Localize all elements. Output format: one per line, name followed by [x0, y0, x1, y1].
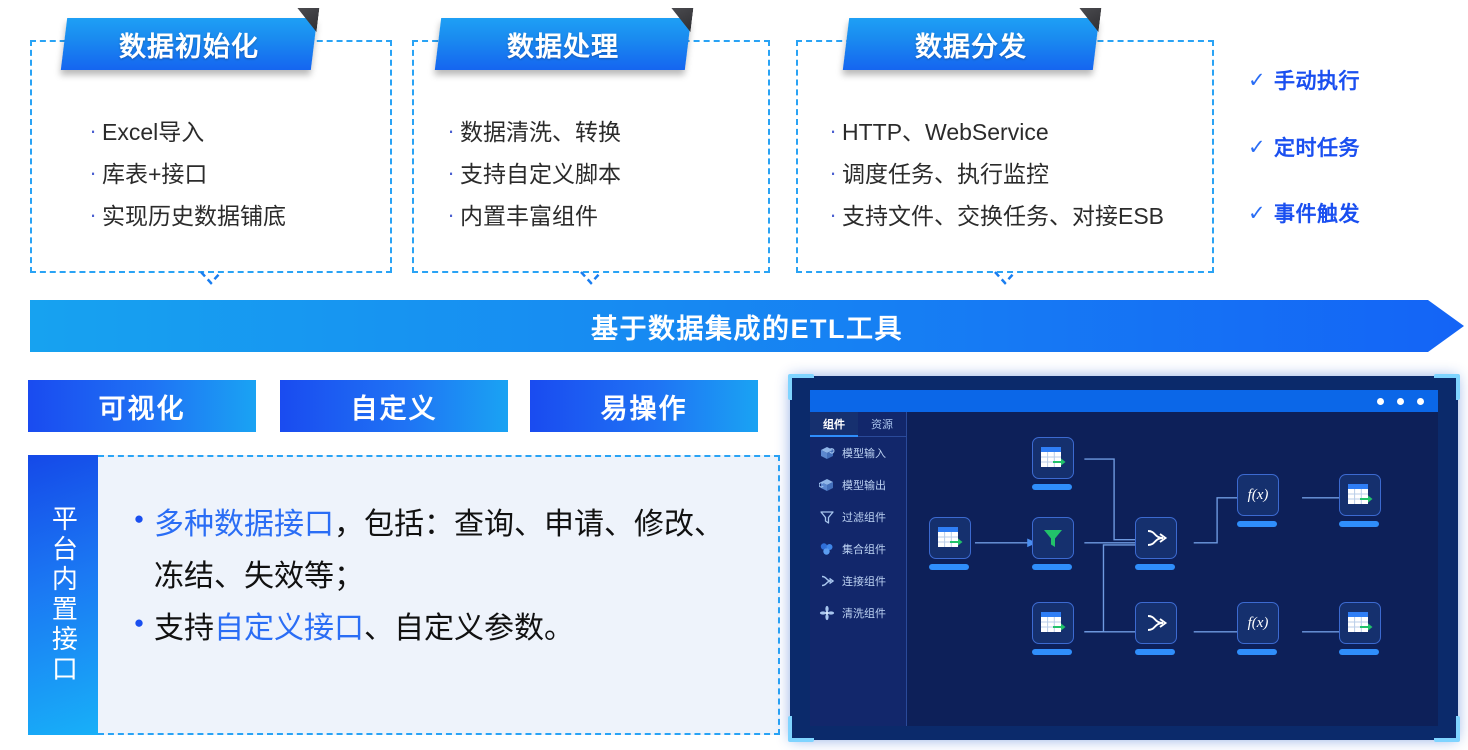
- node-bar: [1339, 521, 1379, 527]
- fx-node[interactable]: f(x): [1237, 474, 1279, 516]
- checklist-item-label: 手动执行: [1274, 65, 1360, 95]
- checklist-item-scheduled: ✓ 定时任务: [1248, 132, 1360, 162]
- feature-content-box: ● 多种数据接口，包括：查询、申请、修改、 冻结、失效等； ● 支持自定义接口、…: [98, 455, 780, 735]
- sidebar-item-label: 过滤组件: [842, 509, 886, 525]
- node-bar: [1032, 564, 1072, 570]
- list-item: · 调度任务、执行监控: [824, 160, 1212, 188]
- list-item-label: 库表+接口: [102, 160, 207, 188]
- feature-line-2: 冻结、失效等；: [124, 551, 778, 603]
- flow-canvas[interactable]: f(x) f(x): [907, 412, 1438, 726]
- window-dot-icon[interactable]: [1377, 398, 1384, 405]
- bullet-dot-icon: ·: [824, 160, 842, 186]
- feature-line-1: ● 多种数据接口，包括：查询、申请、修改、: [124, 499, 778, 551]
- funnel-icon: [819, 509, 835, 525]
- table-node[interactable]: [1339, 602, 1381, 644]
- join-icon: [819, 573, 835, 589]
- panel-ribbon-title: 数据处理: [435, 18, 691, 70]
- connector-notch-icon: [994, 271, 1016, 283]
- sidebar-item-join[interactable]: 连接组件: [810, 565, 906, 597]
- ribbon-fold-corner: [1076, 8, 1101, 32]
- table-node[interactable]: [929, 517, 971, 559]
- node-bar: [1237, 521, 1277, 527]
- ribbon-label: 数据初始化: [119, 25, 259, 64]
- bullet-dot-icon: ·: [84, 118, 102, 144]
- list-item: · 支持文件、交换任务、对接ESB: [824, 202, 1212, 230]
- tab-visualization[interactable]: 可视化: [28, 380, 256, 432]
- fx-label: f(x): [1248, 615, 1269, 632]
- panel-data-process: 数据处理 · 数据清洗、转换 · 支持自定义脚本 · 内置丰富组件: [412, 40, 770, 273]
- sidebar-item-clean[interactable]: 清洗组件: [810, 597, 906, 629]
- checklist-item-label: 事件触发: [1274, 198, 1360, 228]
- table-node[interactable]: [1339, 474, 1381, 516]
- node-bar: [1339, 649, 1379, 655]
- panel-bullet-list: · 数据清洗、转换 · 支持自定义脚本 · 内置丰富组件: [414, 118, 768, 244]
- bullet-dot-icon: ·: [84, 202, 102, 228]
- box-out-icon: [819, 477, 835, 493]
- component-sidebar: 组件 资源 模型输入 模型输出: [810, 412, 907, 726]
- tab-customization[interactable]: 自定义: [280, 380, 508, 432]
- bullet-dot-icon: ·: [84, 160, 102, 186]
- list-item-label: 数据清洗、转换: [460, 118, 621, 146]
- list-item-label: HTTP、WebService: [842, 118, 1049, 146]
- clean-icon: [819, 605, 835, 621]
- window-titlebar: [810, 390, 1438, 412]
- table-icon: [1347, 483, 1373, 507]
- ribbon-fold-corner: [668, 8, 693, 32]
- set-icon: [819, 541, 835, 557]
- sidebar-item-label: 清洗组件: [842, 605, 886, 621]
- funnel-icon: [1041, 526, 1065, 550]
- list-item: · 内置丰富组件: [442, 202, 768, 230]
- table-node[interactable]: [1032, 437, 1074, 479]
- list-item-label: 支持文件、交换任务、对接ESB: [842, 202, 1164, 230]
- sidebar-item-label: 集合组件: [842, 541, 886, 557]
- check-icon: ✓: [1248, 201, 1274, 226]
- ribbon-label: 数据分发: [915, 25, 1027, 64]
- list-item-label: 调度任务、执行监控: [842, 160, 1049, 188]
- box-in-icon: [819, 445, 835, 461]
- bullet-dot-icon: ·: [442, 160, 460, 186]
- list-item: · 实现历史数据铺底: [84, 202, 390, 230]
- checklist-item-event: ✓ 事件触发: [1248, 198, 1360, 228]
- table-icon: [1347, 611, 1373, 635]
- window-body: 组件 资源 模型输入 模型输出: [810, 412, 1438, 726]
- panel-bullet-list: · Excel导入 · 库表+接口 · 实现历史数据铺底: [32, 118, 390, 244]
- banner-title: 基于数据集成的ETL工具: [591, 307, 903, 346]
- node-bar: [1032, 484, 1072, 490]
- feature-highlight-3: 自定义接口: [214, 612, 364, 645]
- connector-notch-icon: [200, 271, 222, 283]
- app-window-screenshot: 组件 资源 模型输入 模型输出: [790, 376, 1458, 740]
- tab-label: 自定义: [351, 387, 438, 426]
- panel-data-distribute: 数据分发 · HTTP、WebService · 调度任务、执行监控 · 支持文…: [796, 40, 1214, 273]
- tab-label: 可视化: [99, 387, 186, 426]
- bullet-dot-icon: ·: [824, 202, 842, 228]
- sidebar-item-model-input[interactable]: 模型输入: [810, 437, 906, 469]
- list-item: · 数据清洗、转换: [442, 118, 768, 146]
- tab-easy-operation[interactable]: 易操作: [530, 380, 758, 432]
- node-bar: [1135, 649, 1175, 655]
- check-icon: ✓: [1248, 135, 1274, 160]
- list-item: · 支持自定义脚本: [442, 160, 768, 188]
- feature-vertical-label-bar: 平台内置接口: [28, 455, 98, 735]
- bullet-dot-icon: ●: [124, 499, 154, 539]
- list-item: · 库表+接口: [84, 160, 390, 188]
- table-icon: [1040, 611, 1066, 635]
- feature-text-3-prefix: 支持: [154, 612, 214, 645]
- sidebar-tabs: 组件 资源: [810, 412, 906, 437]
- sidebar-item-label: 模型输入: [842, 445, 886, 461]
- sidebar-item-set[interactable]: 集合组件: [810, 533, 906, 565]
- table-icon: [937, 526, 963, 550]
- bullet-dot-icon: ●: [124, 603, 154, 643]
- feature-vertical-label: 平台内置接口: [48, 505, 79, 685]
- bullet-dot-icon: ·: [442, 118, 460, 144]
- list-item-label: 实现历史数据铺底: [102, 202, 286, 230]
- sidebar-item-label: 连接组件: [842, 573, 886, 589]
- node-bar: [1032, 649, 1072, 655]
- window-inner: 组件 资源 模型输入 模型输出: [810, 390, 1438, 726]
- sidebar-item-model-output[interactable]: 模型输出: [810, 469, 906, 501]
- table-icon: [1040, 446, 1066, 470]
- sidebar-item-filter[interactable]: 过滤组件: [810, 501, 906, 533]
- feature-line-3: ● 支持自定义接口、自定义参数。: [124, 603, 778, 655]
- connector-notch-icon: [580, 271, 602, 283]
- bullet-dot-icon: ·: [824, 118, 842, 144]
- window-dot-icon[interactable]: [1397, 398, 1404, 405]
- feature-highlight-1: 多种数据接口: [154, 508, 334, 541]
- panel-data-init: 数据初始化 · Excel导入 · 库表+接口 · 实现历史数据铺底: [30, 40, 392, 273]
- feature-text-1: ，包括：查询、申请、修改、: [334, 508, 724, 541]
- join-node[interactable]: [1135, 517, 1177, 559]
- list-item: · Excel导入: [84, 118, 390, 146]
- node-bar: [1135, 564, 1175, 570]
- checklist-item-manual: ✓ 手动执行: [1248, 65, 1360, 95]
- node-bar: [929, 564, 969, 570]
- table-node[interactable]: [1032, 602, 1074, 644]
- join-node[interactable]: [1135, 602, 1177, 644]
- join-icon: [1144, 527, 1168, 549]
- feature-text-3-rest: 、自定义参数。: [364, 612, 574, 645]
- sidebar-tab-components[interactable]: 组件: [810, 412, 858, 437]
- list-item-label: Excel导入: [102, 118, 204, 146]
- sidebar-item-label: 模型输出: [842, 477, 886, 493]
- join-icon: [1144, 612, 1168, 634]
- funnel-node[interactable]: [1032, 517, 1074, 559]
- panel-bullet-list: · HTTP、WebService · 调度任务、执行监控 · 支持文件、交换任…: [798, 118, 1212, 244]
- tab-label: 易操作: [601, 387, 688, 426]
- list-item-label: 支持自定义脚本: [460, 160, 621, 188]
- etl-banner: 基于数据集成的ETL工具: [30, 300, 1464, 352]
- fx-node[interactable]: f(x): [1237, 602, 1279, 644]
- bullet-dot-icon: ·: [442, 202, 460, 228]
- ribbon-fold-corner: [294, 8, 319, 32]
- sidebar-tab-resources[interactable]: 资源: [858, 412, 906, 437]
- checklist-item-label: 定时任务: [1274, 132, 1360, 162]
- check-icon: ✓: [1248, 68, 1274, 93]
- window-dot-icon[interactable]: [1417, 398, 1424, 405]
- list-item: · HTTP、WebService: [824, 118, 1212, 146]
- panel-ribbon-title: 数据分发: [843, 18, 1099, 70]
- node-bar: [1237, 649, 1277, 655]
- fx-label: f(x): [1248, 487, 1269, 504]
- ribbon-label: 数据处理: [507, 25, 619, 64]
- list-item-label: 内置丰富组件: [460, 202, 598, 230]
- panel-ribbon-title: 数据初始化: [61, 18, 317, 70]
